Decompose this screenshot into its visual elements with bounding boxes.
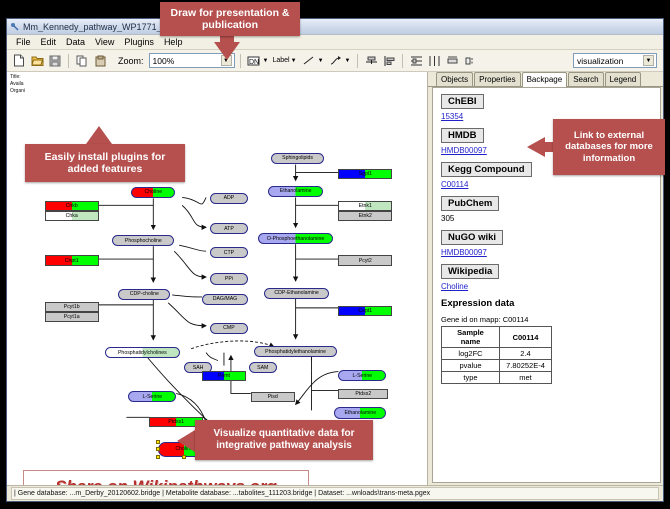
group-icon[interactable] bbox=[444, 53, 460, 69]
chevron-down-icon[interactable]: ▼ bbox=[345, 58, 351, 64]
zoom-label: Zoom: bbox=[118, 56, 144, 66]
expr-key-1: log2FC bbox=[442, 348, 500, 360]
metabolite-node-cmp[interactable]: CMP bbox=[210, 323, 248, 334]
node-label: Chpt1 bbox=[65, 258, 79, 264]
gene-node-pemt[interactable]: Pemt bbox=[202, 371, 246, 381]
expr-val-2: 7.80252E-4 bbox=[500, 360, 552, 372]
metabolite-node-o-phosphoethanolamine[interactable]: O-Phosphoethanolamine bbox=[258, 233, 334, 244]
metabolite-node-ppi[interactable]: PPi bbox=[210, 273, 248, 284]
metabolite-node-phosphocholine[interactable]: Phosphocholine bbox=[112, 235, 174, 246]
node-label: Ethanolamine bbox=[344, 410, 376, 416]
db-nugo-link[interactable]: HMDB00097 bbox=[441, 248, 652, 257]
zoom-value: 100% bbox=[153, 56, 175, 66]
node-label: Sgpl1 bbox=[359, 171, 372, 177]
node-label: SAM bbox=[257, 365, 268, 371]
metabolite-node-cdp-ethanolamine[interactable]: CDP-Ethanolamine bbox=[264, 288, 330, 299]
metabolite-node-adp[interactable]: ADP bbox=[210, 193, 248, 204]
db-pubchem-value: 305 bbox=[441, 214, 652, 223]
expr-key-0: Sample name bbox=[442, 327, 500, 348]
gene-node-chka[interactable]: Chka bbox=[45, 211, 99, 221]
db-kegg-link[interactable]: C00114 bbox=[441, 180, 652, 189]
node-label: Sphingolipids bbox=[282, 155, 313, 161]
chevron-down-icon[interactable]: ▼ bbox=[291, 58, 297, 64]
callout-plugins-text: Easily install plugins for added feature… bbox=[31, 151, 179, 176]
visualization-combo[interactable]: visualization ▼ bbox=[573, 53, 657, 68]
node-label: Cept1 bbox=[358, 308, 372, 314]
expression-data-header: Expression data bbox=[441, 298, 652, 309]
db-nugo-block: NuGO wiki HMDB00097 bbox=[441, 230, 652, 257]
gene-node-etnk1[interactable]: Etnk1 bbox=[338, 201, 392, 211]
node-label: ATP bbox=[224, 226, 234, 232]
metabolite-node-phosphatidylcholines[interactable]: Phosphatidylcholines bbox=[105, 347, 181, 358]
db-kegg-header: Kegg Compound bbox=[441, 162, 532, 177]
menu-item-plugins[interactable]: Plugins bbox=[119, 37, 159, 47]
expression-table: Sample name C00114 log2FC 2.4 pvalue 7.8… bbox=[441, 326, 552, 384]
share-banner: Share on Wikipathways.org bbox=[23, 470, 309, 485]
side-panel-tabs: Objects Properties Backpage Search Legen… bbox=[428, 72, 663, 87]
open-file-icon[interactable] bbox=[29, 53, 45, 69]
metabolite-node-cdp-choline[interactable]: CDP-choline bbox=[118, 289, 170, 300]
menu-item-edit[interactable]: Edit bbox=[36, 37, 62, 47]
menu-item-view[interactable]: View bbox=[90, 37, 119, 47]
node-label: CMP bbox=[223, 325, 235, 331]
paste-icon[interactable] bbox=[92, 53, 108, 69]
node-label: Ptdss2 bbox=[355, 391, 371, 397]
callout-links: Link to external databases for more info… bbox=[553, 119, 665, 175]
align-left-icon[interactable] bbox=[381, 53, 397, 69]
node-label: PPi bbox=[225, 276, 233, 282]
selection-handle[interactable] bbox=[156, 440, 160, 444]
table-row: log2FC 2.4 bbox=[442, 348, 552, 360]
node-label: Phosphatidylethanolamine bbox=[265, 349, 326, 355]
node-label: CDP-Ethanolamine bbox=[274, 290, 318, 296]
db-wikipedia-link[interactable]: Choline bbox=[441, 282, 652, 291]
callout-links-text: Link to external databases for more info… bbox=[557, 130, 661, 164]
node-label: Phosphatidylcholines bbox=[118, 350, 167, 356]
expr-val-1: 2.4 bbox=[500, 348, 552, 360]
metabolite-node-l-serine[interactable]: L-Serine bbox=[128, 391, 176, 402]
node-label: O-Phosphoethanolamine bbox=[267, 236, 324, 242]
node-label: ADP bbox=[224, 195, 235, 201]
status-bar: | Gene database: ...m_Derby_20120602.bri… bbox=[7, 485, 663, 501]
pathvisio-window: Mm_Kennedy_pathway_WP1771_45176.gpml Fil… bbox=[6, 18, 664, 502]
arrow-tool[interactable]: ▼ bbox=[328, 53, 353, 69]
toolbar-separator-3 bbox=[357, 54, 358, 68]
node-label: Pcyt2 bbox=[359, 258, 372, 264]
menu-item-help[interactable]: Help bbox=[159, 37, 188, 47]
metabolite-node-ethanolamine[interactable]: Ethanolamine bbox=[268, 186, 324, 197]
gene-node-cept1[interactable]: Cept1 bbox=[338, 306, 392, 316]
selection-handle[interactable] bbox=[156, 447, 160, 451]
metabolite-node-ethanolamine[interactable]: Ethanolamine bbox=[334, 407, 386, 418]
gene-node-etnk2[interactable]: Etnk2 bbox=[338, 211, 392, 221]
node-label: Phosphocholine bbox=[125, 238, 162, 244]
callout-links-arrow bbox=[527, 137, 545, 157]
distribute-horizontal-icon[interactable] bbox=[426, 53, 442, 69]
db-chebi-header: ChEBI bbox=[441, 94, 484, 109]
table-row: Sample name C00114 bbox=[442, 327, 552, 348]
node-label: SAH bbox=[193, 365, 204, 371]
pathway-canvas[interactable]: Title: Availa Organi bbox=[7, 72, 428, 485]
callout-draw-arrow bbox=[214, 42, 240, 60]
db-wikipedia-header: Wikipedia bbox=[441, 264, 499, 279]
metabolite-node-sam[interactable]: SAM bbox=[249, 362, 277, 373]
db-hmdb-header: HMDB bbox=[441, 128, 484, 143]
arrow-tool-icon[interactable] bbox=[328, 53, 344, 69]
metabolite-node-dag-mag[interactable]: DAG/MAG bbox=[202, 294, 248, 305]
callout-draw-text: Draw for presentation & publication bbox=[164, 7, 296, 32]
db-nugo-header: NuGO wiki bbox=[441, 230, 503, 245]
ungroup-icon[interactable] bbox=[462, 53, 478, 69]
gene-node-pcyt1a[interactable]: Pcyt1a bbox=[45, 312, 99, 322]
title-bar: Mm_Kennedy_pathway_WP1771_45176.gpml bbox=[7, 19, 663, 35]
node-label: CTP bbox=[224, 250, 234, 256]
db-chebi-block: ChEBI 15354 bbox=[441, 94, 652, 121]
align-center-icon[interactable] bbox=[363, 53, 379, 69]
selection-handle[interactable] bbox=[156, 455, 160, 459]
node-label: Chka bbox=[66, 213, 78, 219]
chevron-down-icon[interactable]: ▼ bbox=[643, 55, 654, 66]
datanode-tool-icon[interactable]: DN bbox=[246, 53, 262, 69]
node-label: Pcyt1a bbox=[64, 314, 80, 320]
node-label: Pcyt1b bbox=[64, 304, 80, 310]
node-label: Choline bbox=[145, 189, 163, 195]
node-label: Ptdss1 bbox=[168, 419, 184, 425]
gene-node-pcyt2[interactable]: Pcyt2 bbox=[338, 255, 392, 266]
callout-visualize-text: Visualize quantitative data for integrat… bbox=[200, 428, 368, 452]
metabolite-node-l-serine[interactable]: L-Serine bbox=[338, 370, 386, 381]
menu-bar: File Edit Data View Plugins Help bbox=[7, 35, 663, 50]
tool-bar: Zoom: 100% ▼ DN ▼ Label ▼ ▼ ▼ bbox=[7, 50, 663, 72]
gene-node-pcyt1b[interactable]: Pcyt1b bbox=[45, 302, 99, 312]
expr-key-3: type bbox=[442, 372, 500, 384]
expr-val-0: C00114 bbox=[500, 327, 552, 348]
tab-objects[interactable]: Objects bbox=[436, 72, 473, 86]
node-label: L-Serine bbox=[142, 394, 162, 400]
node-label: Chkb bbox=[66, 203, 78, 209]
gene-node-chkb[interactable]: Chkb bbox=[45, 201, 99, 211]
metabolite-node-atp[interactable]: ATP bbox=[210, 223, 248, 234]
menu-item-file[interactable]: File bbox=[11, 37, 36, 47]
share-banner-text: Share on Wikipathways.org bbox=[55, 477, 277, 485]
tab-search[interactable]: Search bbox=[568, 72, 603, 86]
node-label: L-Serine bbox=[352, 373, 372, 379]
node-label: Pemt bbox=[218, 373, 230, 379]
callout-draw: Draw for presentation & publication bbox=[160, 2, 300, 36]
db-wikipedia-block: Wikipedia Choline bbox=[441, 264, 652, 291]
metabolite-node-ctp[interactable]: CTP bbox=[210, 247, 248, 258]
gene-node-sgpl1[interactable]: Sgpl1 bbox=[338, 169, 392, 179]
datanode-tool[interactable]: DN ▼ bbox=[246, 53, 271, 69]
svg-text:DN: DN bbox=[249, 59, 259, 66]
callout-visualize: Visualize quantitative data for integrat… bbox=[195, 420, 373, 460]
tab-backpage[interactable]: Backpage bbox=[522, 72, 568, 87]
new-file-icon[interactable] bbox=[11, 53, 27, 69]
metabolite-node-choline[interactable]: Choline bbox=[131, 187, 175, 198]
gene-node-chpt1[interactable]: Chpt1 bbox=[45, 255, 99, 266]
tab-properties[interactable]: Properties bbox=[474, 72, 520, 86]
table-row: type met bbox=[442, 372, 552, 384]
node-label: CDP-choline bbox=[130, 291, 159, 297]
db-pubchem-block: PubChem 305 bbox=[441, 196, 652, 223]
table-row: pvalue 7.80252E-4 bbox=[442, 360, 552, 372]
toolbar-separator-4 bbox=[402, 54, 403, 68]
node-label: Pisd bbox=[268, 394, 278, 400]
node-label: Etnk2 bbox=[359, 213, 372, 219]
node-label: DAG/MAG bbox=[213, 296, 238, 302]
chevron-down-icon[interactable]: ▼ bbox=[318, 58, 324, 64]
tab-legend[interactable]: Legend bbox=[605, 72, 642, 86]
menu-item-data[interactable]: Data bbox=[61, 37, 90, 47]
status-text: | Gene database: ...m_Derby_20120602.bri… bbox=[11, 487, 659, 500]
label-tool[interactable]: Label ▼ bbox=[272, 57, 298, 64]
metabolite-node-phosphatidylethanolamine[interactable]: Phosphatidylethanolamine bbox=[254, 346, 338, 357]
db-pubchem-header: PubChem bbox=[441, 196, 499, 211]
node-label: Ethanolamine bbox=[280, 188, 312, 194]
visualization-value: visualization bbox=[577, 56, 623, 66]
label-tool-label: Label bbox=[272, 57, 289, 64]
gene-node-pisd[interactable]: Pisd bbox=[251, 392, 295, 402]
toolbar-separator-1 bbox=[68, 54, 69, 68]
copy-icon[interactable] bbox=[74, 53, 90, 69]
distribute-vertical-icon[interactable] bbox=[408, 53, 424, 69]
chevron-down-icon[interactable]: ▼ bbox=[263, 58, 269, 64]
app-icon bbox=[10, 22, 19, 31]
callout-plugins: Easily install plugins for added feature… bbox=[25, 144, 185, 182]
gene-id-label: Gene id on mapp: C00114 bbox=[441, 315, 652, 324]
node-label: Etnk1 bbox=[359, 203, 372, 209]
selection-handle[interactable] bbox=[182, 455, 186, 459]
expr-key-2: pvalue bbox=[442, 360, 500, 372]
gene-node-ptdss2[interactable]: Ptdss2 bbox=[338, 389, 388, 399]
expr-val-3: met bbox=[500, 372, 552, 384]
line-tool[interactable]: ▼ bbox=[301, 53, 326, 69]
line-tool-icon[interactable] bbox=[301, 53, 317, 69]
save-file-icon[interactable] bbox=[47, 53, 63, 69]
metabolite-node-sphingolipids[interactable]: Sphingolipids bbox=[271, 153, 325, 164]
